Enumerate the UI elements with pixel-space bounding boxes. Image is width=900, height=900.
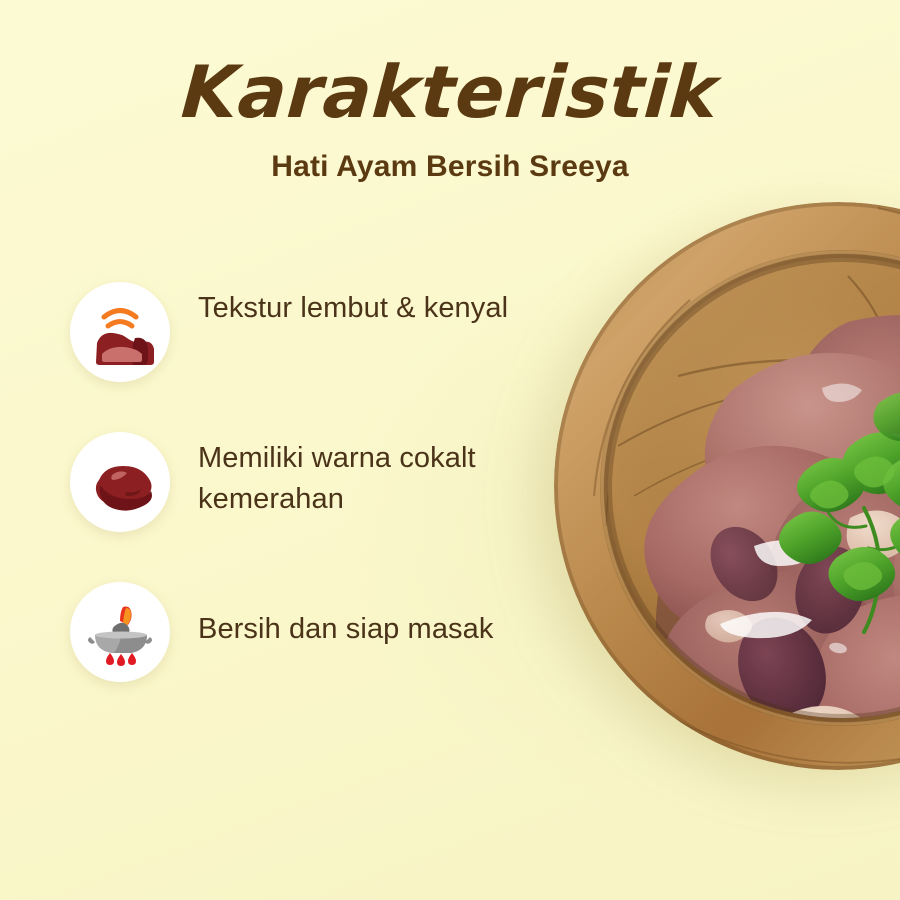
liver-cut-icon: [85, 447, 155, 517]
feature-label: Tekstur lembut & kenyal: [198, 288, 588, 329]
page-title: Karakteristik: [0, 56, 900, 128]
feature-item: Bersih dan siap masak: [70, 582, 590, 732]
chicken-liver-wooden-bowl-photo: [548, 196, 900, 776]
tender-meat-waves-icon: [85, 297, 155, 367]
feature-icon-badge: [70, 432, 170, 532]
feature-item: Tekstur lembut & kenyal: [70, 282, 590, 432]
feature-icon-badge: [70, 582, 170, 682]
feature-item: Memiliki warna cokalt kemerahan: [70, 432, 590, 582]
feature-label: Bersih dan siap masak: [198, 609, 588, 650]
feature-icon-badge: [70, 282, 170, 382]
feature-label: Memiliki warna cokalt kemerahan: [198, 438, 588, 520]
feature-list: Tekstur lembut & kenyal Memiliki warna c…: [70, 282, 590, 732]
header: Karakteristik Hati Ayam Bersih Sreeya: [0, 0, 900, 184]
strainer-draining-icon: [85, 597, 155, 667]
poster-canvas: Karakteristik Hati Ayam Bersih Sreeya: [0, 0, 900, 900]
page-subtitle: Hati Ayam Bersih Sreeya: [0, 150, 900, 184]
